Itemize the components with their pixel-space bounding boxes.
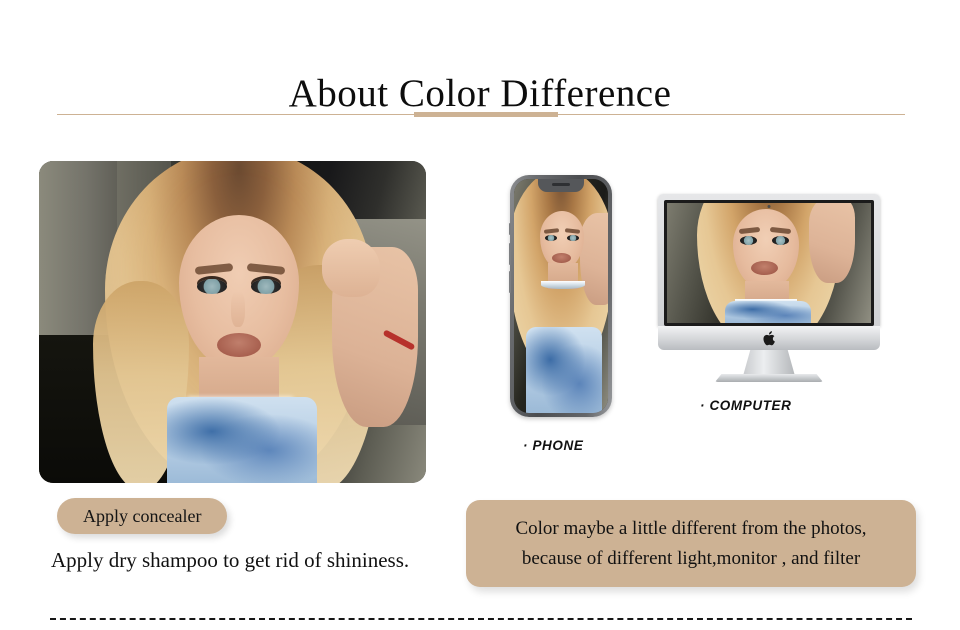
color-difference-note-line-2: because of different light,monitor , and… xyxy=(484,544,898,573)
phone-portrait-choker-necklace xyxy=(541,281,585,289)
monitor-portrait-image xyxy=(667,203,871,323)
page-title: About Color Difference xyxy=(0,74,960,113)
color-difference-note-line-1: Color maybe a little different from the … xyxy=(484,514,898,543)
hero-model-eye-right xyxy=(251,279,281,294)
monitor-bezel xyxy=(658,194,880,326)
hero-model-lips xyxy=(217,333,261,357)
phone-mute-switch xyxy=(509,223,511,235)
monitor-stand-neck xyxy=(743,350,795,376)
device-comparison-group: · PHONE xyxy=(470,160,930,460)
phone-earpiece-speaker-icon xyxy=(552,183,570,186)
hero-caption: Apply dry shampoo to get rid of shinines… xyxy=(51,548,409,573)
monitor-portrait-top-garment xyxy=(725,301,811,323)
color-difference-note-box: Color maybe a little different from the … xyxy=(466,500,916,587)
hero-model-top-garment xyxy=(167,397,317,483)
phone-mockup xyxy=(510,175,612,417)
phone-volume-up-button xyxy=(509,243,511,265)
hero-model-nose xyxy=(231,291,245,327)
divider-accent-segment xyxy=(414,112,558,117)
phone-portrait-image xyxy=(514,179,608,413)
apply-concealer-badge: Apply concealer xyxy=(57,498,227,534)
phone-portrait-lips xyxy=(552,253,571,263)
monitor-screen xyxy=(667,203,871,323)
monitor-portrait-eye-right xyxy=(772,236,789,245)
monitor-portrait-eye-left xyxy=(740,236,757,245)
computer-label: · COMPUTER xyxy=(700,398,792,413)
phone-portrait-arm xyxy=(580,213,608,305)
monitor-chin xyxy=(658,326,880,350)
phone-portrait-eye-right xyxy=(567,235,579,241)
footer-dashed-divider xyxy=(50,618,912,620)
monitor-webcam-icon xyxy=(768,205,771,208)
apple-logo-icon xyxy=(763,331,776,346)
phone-volume-down-button xyxy=(509,271,511,293)
hero-model-hand xyxy=(322,239,380,297)
header-divider xyxy=(57,112,905,118)
monitor-portrait-arm xyxy=(809,203,855,283)
monitor-portrait-lips xyxy=(751,261,778,275)
phone-portrait-top-garment xyxy=(526,327,602,413)
phone-screen xyxy=(514,179,608,413)
phone-label: · PHONE xyxy=(523,438,583,453)
computer-monitor-mockup xyxy=(658,194,880,372)
hero-product-photo xyxy=(39,161,426,483)
monitor-portrait-face xyxy=(733,209,799,289)
monitor-screen-frame xyxy=(664,200,874,326)
hero-model-eye-left xyxy=(197,279,227,294)
phone-portrait-eye-left xyxy=(545,235,557,241)
monitor-stand-base xyxy=(715,374,823,382)
